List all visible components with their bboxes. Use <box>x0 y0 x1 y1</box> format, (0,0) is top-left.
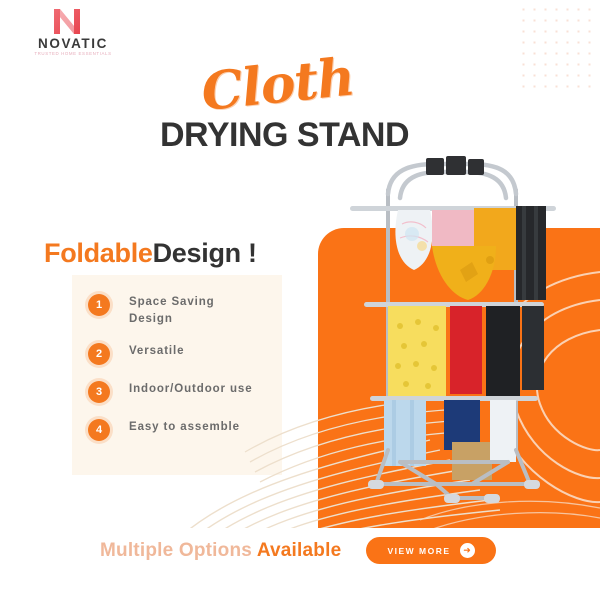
brand-tagline: TRUSTED HOME ESSENTIALS <box>14 51 132 56</box>
footer-text-accent: Available <box>257 540 342 561</box>
subheading: FoldableDesign ! <box>44 238 257 269</box>
feature-number-badge: 1 <box>88 294 110 316</box>
list-item: 1 Space Saving Design <box>88 294 278 327</box>
feature-number-badge: 2 <box>88 343 110 365</box>
list-item: 2 Versatile <box>88 343 278 365</box>
feature-number-badge: 3 <box>88 381 110 403</box>
view-more-button[interactable]: VIEW MORE ➜ <box>366 537 496 564</box>
feature-label: Indoor/Outdoor use <box>129 381 253 398</box>
headline-script-word: Cloth <box>199 46 357 123</box>
headline: Cloth DRYING STAND <box>160 62 460 152</box>
footer-text-light: Multiple Options <box>100 540 252 561</box>
list-item: 3 Indoor/Outdoor use <box>88 381 278 403</box>
list-item: 4 Easy to assemble <box>88 419 278 441</box>
subheading-dark-word: Design ! <box>153 238 257 268</box>
footer-bar <box>0 528 600 600</box>
n-monogram-icon <box>50 6 84 36</box>
feature-label: Space Saving Design <box>129 294 259 327</box>
footer-text: Multiple Options Available <box>100 540 341 562</box>
feature-label: Easy to assemble <box>129 419 240 436</box>
dot-grid-pattern-icon <box>518 4 596 90</box>
brand-logo: NOVATIC TRUSTED HOME ESSENTIALS <box>14 6 134 58</box>
feature-number-badge: 4 <box>88 419 110 441</box>
view-more-label: VIEW MORE <box>387 546 450 556</box>
brand-name: NOVATIC <box>14 36 132 51</box>
arrow-right-icon: ➜ <box>460 543 475 558</box>
feature-list: 1 Space Saving Design 2 Versatile 3 Indo… <box>88 294 278 457</box>
promo-poster: NOVATIC TRUSTED HOME ESSENTIALS Cloth DR… <box>0 0 600 600</box>
subheading-accent-word: Foldable <box>44 238 153 268</box>
product-image <box>340 150 570 510</box>
feature-label: Versatile <box>129 343 184 360</box>
